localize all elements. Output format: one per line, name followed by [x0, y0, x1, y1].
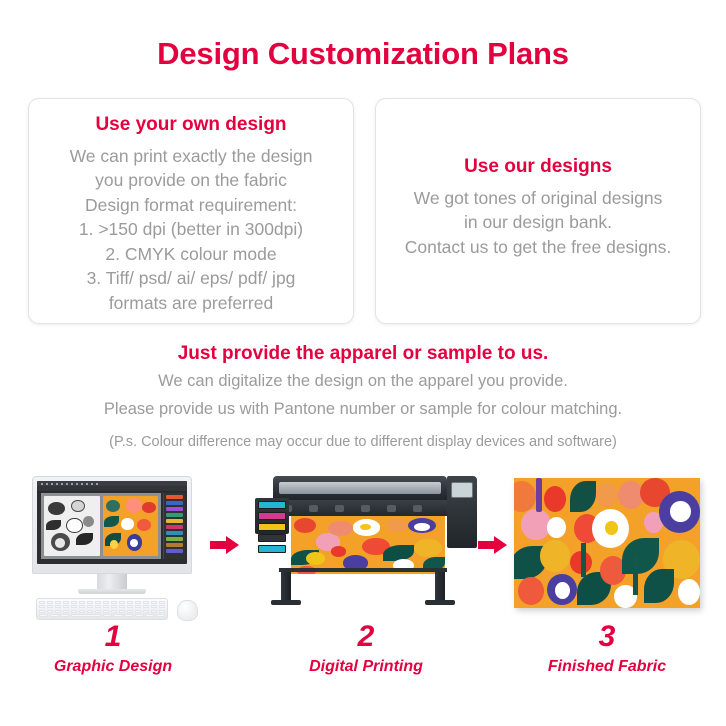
- colour-difference-note: (P.s. Colour difference may occur due to…: [0, 434, 726, 450]
- card-line: formats are preferred: [39, 291, 343, 316]
- page-title: Design Customization Plans: [0, 36, 726, 72]
- arrow-right-icon: [478, 536, 508, 554]
- wide-format-printer-image: [255, 472, 477, 612]
- card-line: Contact us to get the free designs.: [386, 235, 690, 260]
- card-line: Design format requirement:: [39, 193, 343, 218]
- card-line: 3. Tiff/ psd/ ai/ eps/ pdf/ jpg: [39, 266, 343, 291]
- ink-cartridge-bay: [255, 498, 289, 534]
- card-line: you provide on the fabric: [39, 168, 343, 193]
- app-canvas: [41, 493, 161, 559]
- apparel-section-heading: Just provide the apparel or sample to us…: [0, 343, 726, 365]
- process-visuals-row: [0, 470, 726, 620]
- step-number: 3: [514, 622, 700, 652]
- printer-top-cover: [273, 476, 447, 502]
- design-customization-plans-page: Design Customization Plans Use your own …: [0, 0, 726, 726]
- step-label: Digital Printing: [255, 658, 477, 676]
- printer-carriage-rail: [269, 500, 453, 516]
- card-body: We can print exactly the design you prov…: [39, 144, 343, 316]
- apparel-section-line-1: We can digitalize the design on the appa…: [0, 372, 726, 391]
- step-label: Graphic Design: [28, 658, 198, 676]
- process-step-caption: 3 Finished Fabric: [514, 622, 700, 676]
- card-line: 1. >150 dpi (better in 300dpi): [39, 217, 343, 242]
- card-heading: Use your own design: [39, 113, 343, 137]
- plan-card-our-designs: Use our designs We got tones of original…: [375, 98, 701, 324]
- mouse: [177, 600, 198, 621]
- artboard-colour: [103, 496, 159, 556]
- card-line: We got tones of original designs: [386, 186, 690, 211]
- step-label: Finished Fabric: [514, 658, 700, 676]
- step-number: 2: [255, 622, 477, 652]
- app-swatch-panel: [163, 493, 185, 559]
- card-line: We can print exactly the design: [39, 144, 343, 169]
- keyboard: [36, 598, 168, 620]
- imac-design-software-image: [28, 476, 198, 616]
- card-content: Use your own design We can print exactly…: [29, 113, 353, 315]
- process-step-caption: 2 Digital Printing: [255, 622, 477, 676]
- arrow-right-icon: [210, 536, 240, 554]
- process-step-caption: 1 Graphic Design: [28, 622, 198, 676]
- printed-fabric-output: [291, 516, 445, 574]
- imac-bezel: [32, 476, 192, 574]
- app-toolbar: [37, 486, 187, 492]
- printer-control-housing: [447, 476, 477, 548]
- card-line: in our design bank.: [386, 210, 690, 235]
- printer-window: [279, 482, 441, 494]
- plan-card-own-design: Use your own design We can print exactly…: [28, 98, 354, 324]
- card-heading: Use our designs: [386, 155, 690, 179]
- artboard-grayscale: [44, 496, 100, 556]
- printer-foot-left: [271, 600, 301, 605]
- step-number: 1: [28, 622, 198, 652]
- card-line: 2. CMYK colour mode: [39, 242, 343, 267]
- printer-control-panel: [451, 482, 473, 498]
- imac-display: [37, 481, 187, 564]
- imac-stand-foot: [78, 589, 146, 594]
- finished-fabric-image: [514, 478, 700, 608]
- apparel-section-line-2: Please provide us with Pantone number or…: [0, 400, 726, 419]
- printer-lower-bar: [279, 568, 447, 572]
- card-content: Use our designs We got tones of original…: [376, 155, 700, 259]
- printer-foot-right: [425, 600, 455, 605]
- card-body: We got tones of original designs in our …: [386, 186, 690, 260]
